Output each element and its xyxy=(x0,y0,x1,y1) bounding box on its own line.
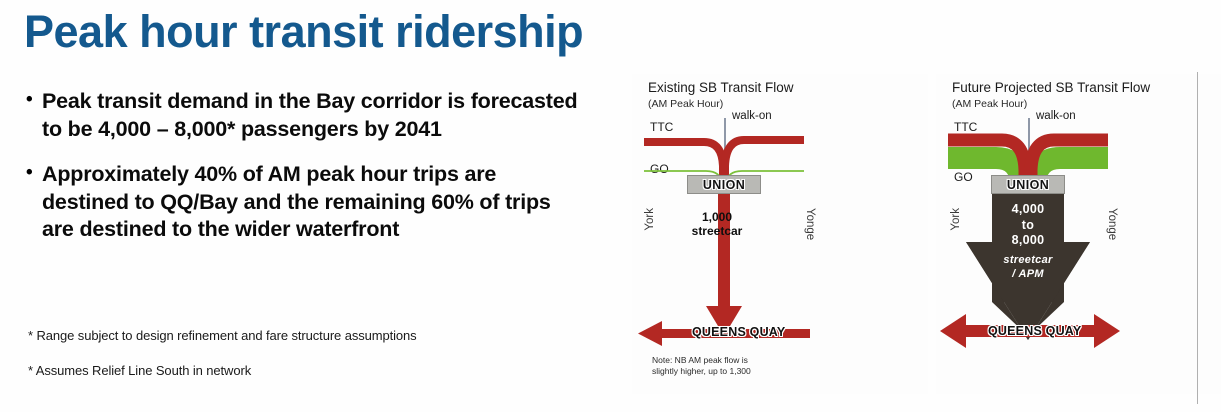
page-title: Peak hour transit ridership xyxy=(24,8,583,55)
flow-lines-future xyxy=(936,74,1221,394)
street-york-label: York xyxy=(950,208,962,231)
corridor-queens-quay-label: QUEENS QUAY xyxy=(988,324,1081,338)
diagram-future-flow: Future Projected SB Transit Flow (AM Pea… xyxy=(936,74,1221,394)
bullet-text: Peak transit demand in the Bay corridor … xyxy=(42,88,586,143)
bullet-text: Approximately 40% of AM peak hour trips … xyxy=(42,161,586,244)
footnote-range: * Range subject to design refinement and… xyxy=(28,328,417,343)
station-label: UNION xyxy=(703,178,745,192)
station-union-box: UNION xyxy=(991,175,1065,194)
street-yonge-label: Yonge xyxy=(804,208,816,240)
corridor-queens-quay-label: QUEENS QUAY xyxy=(692,325,785,339)
list-item: • Peak transit demand in the Bay corrido… xyxy=(26,88,586,143)
street-yonge-label: Yonge xyxy=(1106,208,1118,240)
list-item: • Approximately 40% of AM peak hour trip… xyxy=(26,161,586,244)
station-union-box: UNION xyxy=(687,175,761,194)
bullet-list: • Peak transit demand in the Bay corrido… xyxy=(26,88,586,262)
bullet-marker-icon: • xyxy=(26,88,42,112)
footnote-relief-line: * Assumes Relief Line South in network xyxy=(28,363,251,378)
panel-divider xyxy=(1197,72,1198,404)
bullet-marker-icon: • xyxy=(26,161,42,185)
street-york-label: York xyxy=(644,208,656,231)
station-label: UNION xyxy=(1007,178,1049,192)
flow-volume-label: 1,000 streetcar xyxy=(662,210,772,239)
slide-canvas: Peak hour transit ridership • Peak trans… xyxy=(0,0,1221,412)
flow-mode-label: streetcar / APM xyxy=(986,254,1070,282)
flow-volume-label: 4,000 to 8,000 xyxy=(992,202,1064,249)
diagram-existing-flow: Existing SB Transit Flow (AM Peak Hour) … xyxy=(632,74,928,394)
diagram-note: Note: NB AM peak flow is slightly higher… xyxy=(652,355,751,378)
